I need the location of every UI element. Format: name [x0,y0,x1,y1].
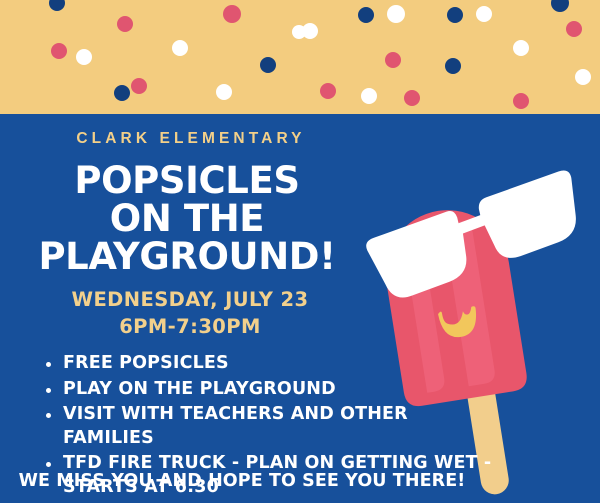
closing-message: WE MISS YOU AND HOPE TO SEE YOU THERE! [0,471,484,491]
confetti-dot [445,58,461,74]
confetti-dot [513,40,529,56]
confetti-dot [476,6,492,22]
confetti-dot [358,7,374,23]
confetti-dot [404,90,420,106]
confetti-dot [49,0,65,11]
headline-line-2: ON THE [12,200,362,238]
confetti-dot [260,57,276,73]
page-title: POPSICLES ON THE PLAYGROUND! [12,162,362,276]
school-name: CLARK ELEMENTARY [26,130,356,148]
confetti-dot [361,88,377,104]
confetti-dot [447,7,463,23]
event-datetime: WEDNESDAY, JULY 23 6PM-7:30PM [20,286,360,340]
list-item: PLAY ON THE PLAYGROUND [44,378,496,402]
confetti-dot [513,93,529,109]
confetti-dot [387,5,405,23]
confetti-dot [114,85,130,101]
confetti-dot [51,43,67,59]
list-item: VISIT WITH TEACHERS AND OTHER FAMILIES [44,403,496,450]
confetti-dot [551,0,569,12]
confetti-dot [76,49,92,65]
confetti-dot [566,21,582,37]
confetti-dot [223,5,241,23]
event-date: WEDNESDAY, JULY 23 [20,286,360,313]
flyer-canvas: CLARK ELEMENTARY POPSICLES ON THE PLAYGR… [0,0,600,503]
confetti-banner [0,0,600,114]
headline-line-3: PLAYGROUND! [12,238,362,276]
confetti-dot [302,23,318,39]
confetti-dot [172,40,188,56]
confetti-dot [575,69,591,85]
headline-line-1: POPSICLES [12,162,362,200]
confetti-dot [320,83,336,99]
confetti-dot [117,16,133,32]
event-time: 6PM-7:30PM [20,313,360,340]
list-item: FREE POPSICLES [44,352,496,376]
confetti-dot [385,52,401,68]
confetti-dot [216,84,232,100]
confetti-dot [131,78,147,94]
flyer-content: CLARK ELEMENTARY POPSICLES ON THE PLAYGR… [0,118,600,503]
